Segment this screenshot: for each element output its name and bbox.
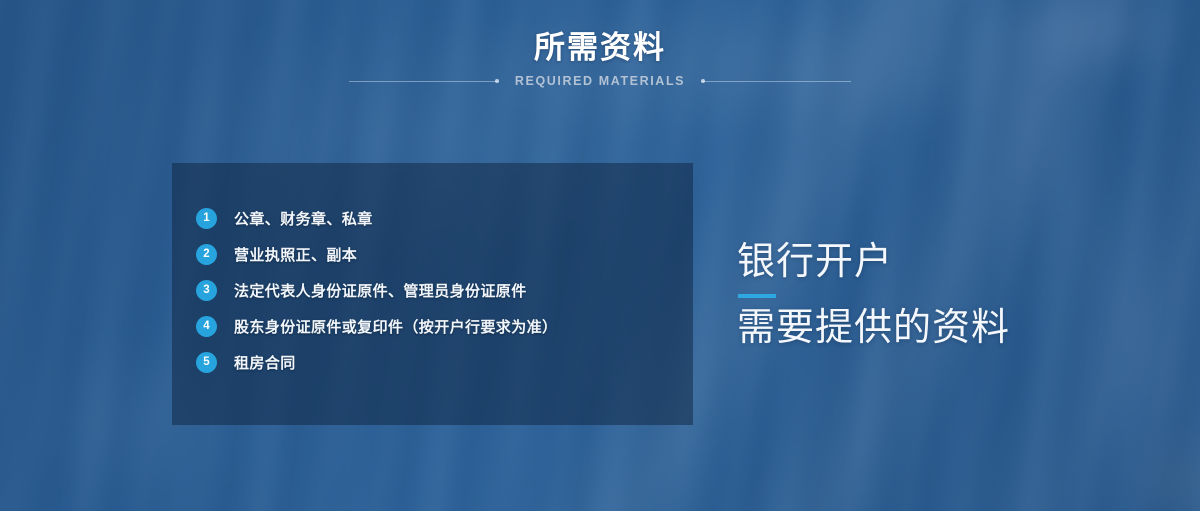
required-materials-banner: 所需资料 REQUIRED MATERIALS 1 公章、财务章、私章 2 营业… xyxy=(0,0,1200,511)
list-item-label: 公章、财务章、私章 xyxy=(234,208,373,229)
headline-line-1: 银行开户 xyxy=(737,240,1010,285)
list-item-label: 营业执照正、副本 xyxy=(234,244,357,265)
page-title: 所需资料 xyxy=(0,28,1200,68)
header-rule-left xyxy=(349,81,499,82)
headline-divider xyxy=(738,294,776,298)
item-number-badge: 5 xyxy=(196,352,217,373)
list-item: 2 营业执照正、副本 xyxy=(196,236,557,272)
headline-block: 银行开户 需要提供的资料 xyxy=(737,240,1010,351)
list-item: 5 租房合同 xyxy=(196,344,557,380)
list-item: 3 法定代表人身份证原件、管理员身份证原件 xyxy=(196,272,557,308)
item-number-badge: 4 xyxy=(196,316,217,337)
list-item: 1 公章、财务章、私章 xyxy=(196,200,557,236)
list-item-label: 股东身份证原件或复印件（按开户行要求为准） xyxy=(234,316,557,337)
item-number-badge: 2 xyxy=(196,244,217,265)
item-number-badge: 1 xyxy=(196,208,217,229)
page-subtitle: REQUIRED MATERIALS xyxy=(515,74,685,88)
header-rule-right xyxy=(701,81,851,82)
item-number-badge: 3 xyxy=(196,280,217,301)
materials-panel: 1 公章、财务章、私章 2 营业执照正、副本 3 法定代表人身份证原件、管理员身… xyxy=(172,163,693,425)
materials-list: 1 公章、财务章、私章 2 营业执照正、副本 3 法定代表人身份证原件、管理员身… xyxy=(196,200,557,380)
subtitle-row: REQUIRED MATERIALS xyxy=(0,74,1200,88)
section-header: 所需资料 REQUIRED MATERIALS xyxy=(0,28,1200,88)
list-item-label: 租房合同 xyxy=(234,352,296,373)
headline-line-2: 需要提供的资料 xyxy=(737,306,1010,351)
list-item-label: 法定代表人身份证原件、管理员身份证原件 xyxy=(234,280,527,301)
list-item: 4 股东身份证原件或复印件（按开户行要求为准） xyxy=(196,308,557,344)
